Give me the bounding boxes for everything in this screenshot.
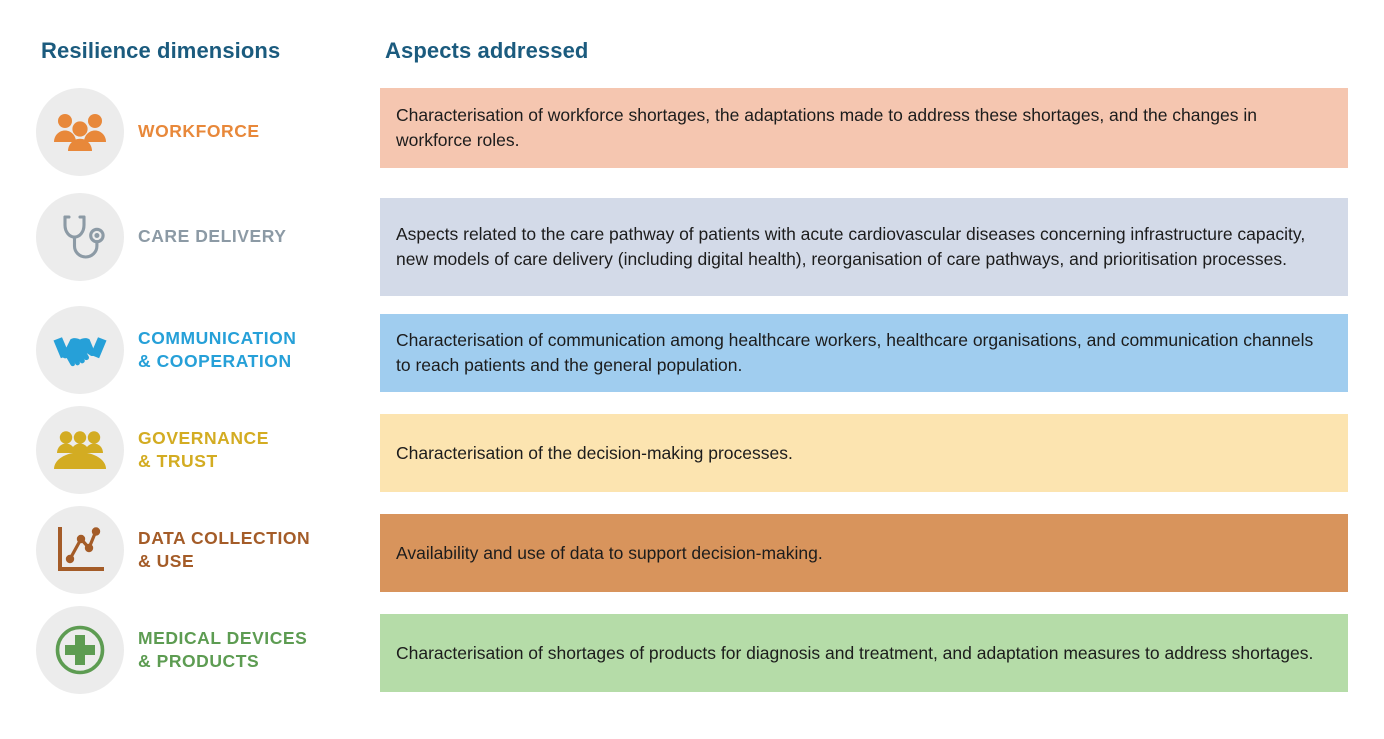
- aspect-text: Characterisation of shortages of product…: [396, 641, 1313, 666]
- dimension-cell-medical-devices: MEDICAL DEVICES & PRODUCTS: [36, 606, 376, 694]
- dimension-label-communication: COMMUNICATION & COOPERATION: [138, 327, 296, 374]
- aspect-panel-communication: Characterisation of communication among …: [380, 314, 1348, 392]
- stethoscope-icon: [36, 193, 124, 281]
- people-at-table-icon: [36, 406, 124, 494]
- dimension-cell-data-collection: DATA COLLECTION & USE: [36, 506, 376, 594]
- dimension-label-care-delivery: CARE DELIVERY: [138, 225, 286, 248]
- dimension-label-workforce: WORKFORCE: [138, 120, 260, 143]
- dimension-label-governance: GOVERNANCE & TRUST: [138, 427, 269, 474]
- aspect-text: Characterisation of communication among …: [396, 328, 1330, 378]
- resilience-dimensions-figure: Resilience dimensions Aspects addressed: [0, 0, 1384, 739]
- dimension-rows: WORKFORCE Characterisation of workforce …: [0, 88, 1384, 706]
- dimension-cell-governance: GOVERNANCE & TRUST: [36, 406, 376, 494]
- dimension-cell-care-delivery: CARE DELIVERY: [36, 193, 376, 281]
- dimension-label-medical-devices: MEDICAL DEVICES & PRODUCTS: [138, 627, 307, 674]
- aspect-panel-medical-devices: Characterisation of shortages of product…: [380, 614, 1348, 692]
- aspect-panel-governance: Characterisation of the decision-making …: [380, 414, 1348, 492]
- aspect-text: Availability and use of data to support …: [396, 541, 823, 566]
- dimension-cell-workforce: WORKFORCE: [36, 88, 376, 176]
- table-row: WORKFORCE Characterisation of workforce …: [0, 88, 1384, 193]
- group-of-people-icon: [36, 88, 124, 176]
- table-row: GOVERNANCE & TRUST Characterisation of t…: [0, 406, 1384, 506]
- aspect-panel-care-delivery: Aspects related to the care pathway of p…: [380, 198, 1348, 296]
- aspect-text: Characterisation of the decision-making …: [396, 441, 793, 466]
- medical-cross-circle-icon: [36, 606, 124, 694]
- aspect-panel-workforce: Characterisation of workforce shortages,…: [380, 88, 1348, 168]
- aspect-text: Aspects related to the care pathway of p…: [396, 222, 1330, 272]
- aspect-text: Characterisation of workforce shortages,…: [396, 103, 1330, 153]
- dimension-label-data-collection: DATA COLLECTION & USE: [138, 527, 310, 574]
- table-row: COMMUNICATION & COOPERATION Characterisa…: [0, 306, 1384, 406]
- table-row: MEDICAL DEVICES & PRODUCTS Characterisat…: [0, 606, 1384, 706]
- column-header-resilience-dimensions: Resilience dimensions: [41, 38, 280, 64]
- dimension-cell-communication: COMMUNICATION & COOPERATION: [36, 306, 376, 394]
- table-row: CARE DELIVERY Aspects related to the car…: [0, 193, 1384, 306]
- line-chart-icon: [36, 506, 124, 594]
- column-headers: Resilience dimensions Aspects addressed: [0, 38, 1384, 72]
- table-row: DATA COLLECTION & USE Availability and u…: [0, 506, 1384, 606]
- aspect-panel-data-collection: Availability and use of data to support …: [380, 514, 1348, 592]
- handshake-icon: [36, 306, 124, 394]
- column-header-aspects-addressed: Aspects addressed: [385, 38, 588, 64]
